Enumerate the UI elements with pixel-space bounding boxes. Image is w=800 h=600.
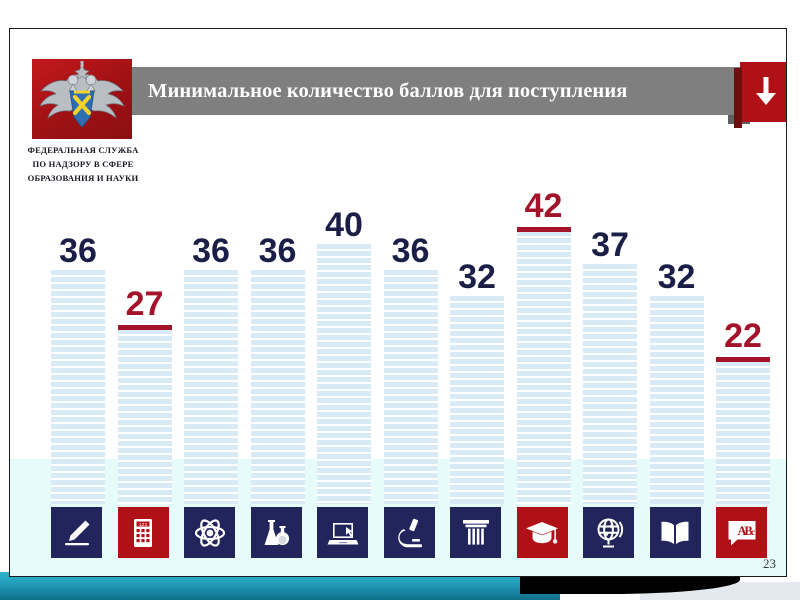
slide-number: 23	[763, 556, 776, 572]
calculator-icon: 123	[126, 516, 160, 550]
pen-icon	[60, 516, 94, 550]
atom-icon	[193, 516, 227, 550]
bar-column: 22	[716, 181, 770, 504]
bar-highlight-underline	[716, 357, 770, 362]
subject-tile-5[interactable]	[317, 507, 368, 558]
bar-column: 37	[583, 181, 637, 504]
open-book-icon	[658, 516, 692, 550]
subject-tile-6[interactable]	[384, 507, 435, 558]
bar	[517, 231, 571, 504]
subject-tile-11[interactable]: A B c	[716, 507, 767, 558]
microscope-icon	[392, 516, 426, 550]
bar-highlight-underline	[118, 325, 172, 330]
subject-tile-3[interactable]	[184, 507, 235, 558]
flasks-icon	[259, 516, 293, 550]
bar-column: 32	[450, 181, 504, 504]
svg-text:123: 123	[139, 522, 148, 528]
page-title: Минимальное количество баллов для поступ…	[124, 80, 627, 103]
bar-column: 36	[51, 181, 105, 504]
abc-speech-bubble-icon: A B c	[725, 516, 759, 550]
subject-tile-1[interactable]	[51, 507, 102, 558]
bar-column: 36	[184, 181, 238, 504]
subject-tile-7[interactable]	[450, 507, 501, 558]
subject-tile-4[interactable]	[251, 507, 302, 558]
subject-label-line-1: Иностранные	[699, 575, 785, 577]
subject-tile-2[interactable]: 123	[118, 507, 169, 558]
bar-chart: 3627363640363242373222	[10, 179, 787, 504]
subject-tile-8[interactable]	[517, 507, 568, 558]
emblem-caption-line-2: ПО НАДЗОРУ В СФЕРЕ	[12, 157, 154, 171]
federal-service-emblem	[32, 59, 132, 139]
column-icon	[459, 516, 493, 550]
bar	[716, 361, 770, 504]
laptop-icon	[326, 516, 360, 550]
double-headed-eagle-emblem	[32, 59, 132, 139]
graduation-cap-icon	[525, 516, 559, 550]
subject-tile-10[interactable]	[650, 507, 701, 558]
bar	[384, 270, 438, 504]
bar-column: 36	[384, 181, 438, 504]
subject-label-11: Иностранныеязыки	[699, 575, 785, 577]
bar	[317, 244, 371, 504]
bar	[583, 264, 637, 505]
emblem-caption-line-1: ФЕДЕРАЛЬНАЯ СЛУЖБА	[12, 143, 154, 157]
download-arrow-icon	[753, 75, 779, 109]
slide: Минимальное количество баллов для поступ…	[9, 28, 787, 577]
bar	[450, 296, 504, 504]
bar-column: 27	[118, 181, 172, 504]
slide-backdrop: Минимальное количество баллов для поступ…	[0, 0, 800, 600]
title-bar: Минимальное количество баллов для поступ…	[124, 67, 751, 115]
bar	[184, 270, 238, 504]
bar	[118, 329, 172, 505]
download-button-shadow	[734, 68, 742, 128]
globe-icon	[592, 516, 626, 550]
subject-tile-9[interactable]	[583, 507, 634, 558]
bar-value-label: 22	[683, 319, 787, 353]
download-button[interactable]	[740, 62, 787, 122]
bar-column: 40	[317, 181, 371, 504]
bar	[251, 270, 305, 504]
svg-text:c: c	[751, 527, 755, 537]
